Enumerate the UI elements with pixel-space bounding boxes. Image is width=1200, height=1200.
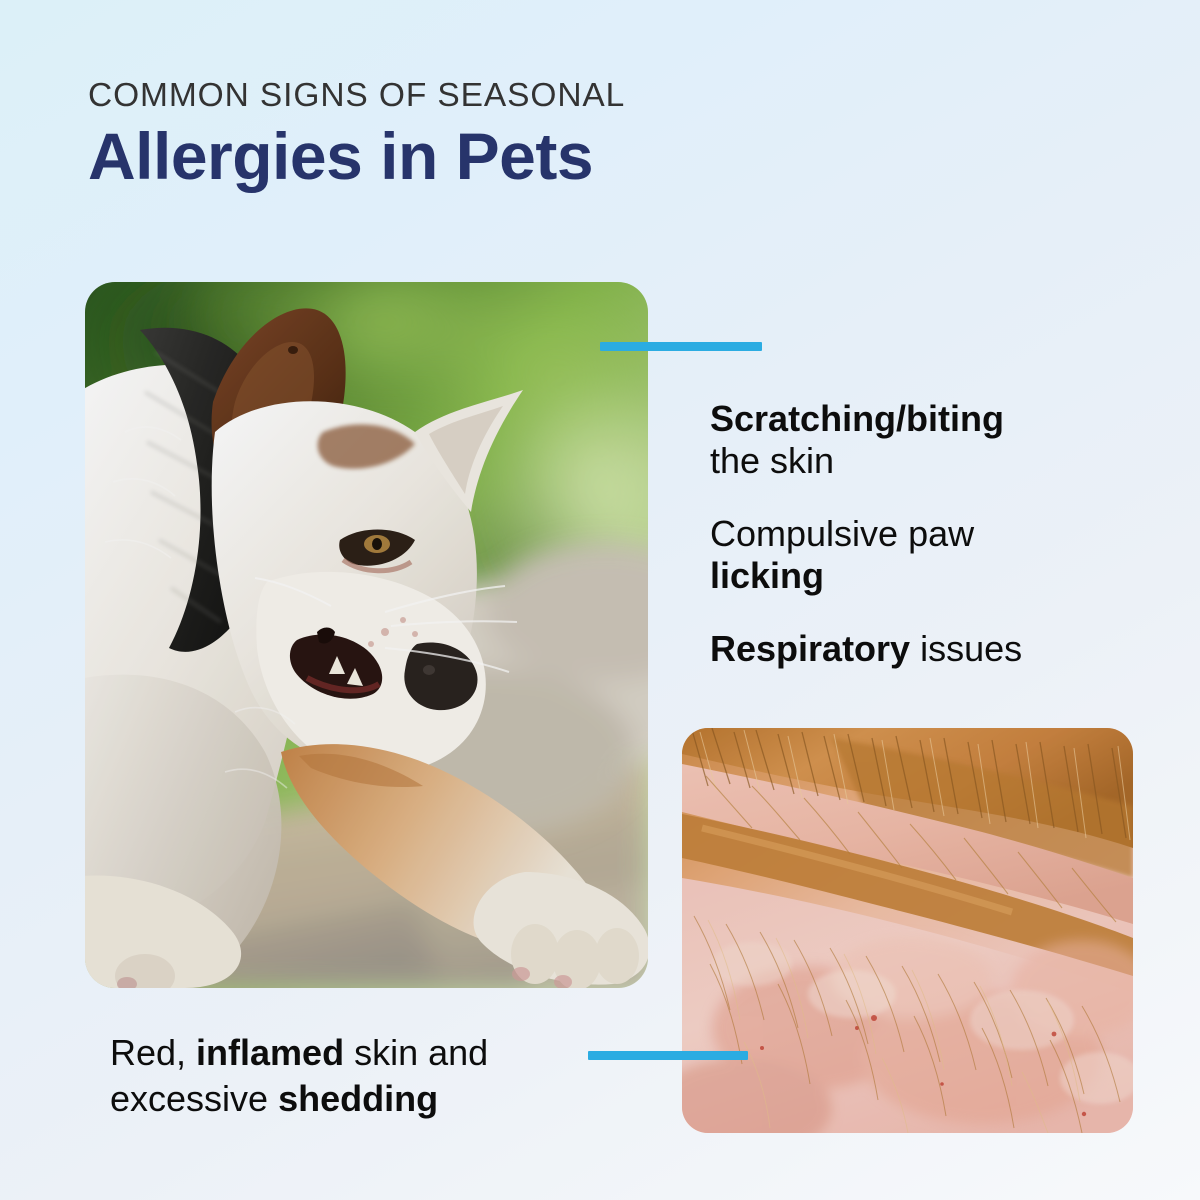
infographic-poster: COMMON SIGNS OF SEASONAL Allergies in Pe…	[0, 0, 1200, 1200]
bullet-1-bold: Scratching/biting	[710, 398, 1130, 440]
bullet-3-bold: Respiratory	[710, 628, 910, 669]
header-block: COMMON SIGNS OF SEASONAL Allergies in Pe…	[88, 78, 1048, 192]
list-item: Respiratory issues	[710, 628, 1130, 670]
page-title: Allergies in Pets	[88, 121, 1048, 192]
skin-caption: Red, inflamed skin and excessive sheddin…	[110, 1030, 630, 1122]
bullet-1-normal: the skin	[710, 440, 1130, 482]
caption-line1-part1: Red,	[110, 1032, 196, 1073]
caption-line2-part1: excessive	[110, 1078, 278, 1119]
symptom-list: Scratching/biting the skin Compulsive pa…	[710, 398, 1130, 670]
dog-photo-illustration	[85, 282, 648, 988]
list-item: Scratching/biting the skin	[710, 398, 1130, 483]
dog-photo-canvas	[85, 282, 648, 988]
dog-biting-paw-photo	[85, 282, 648, 988]
inflamed-skin-photo	[682, 728, 1133, 1133]
top-connector-line	[600, 342, 762, 351]
bullet-3-normal: issues	[910, 628, 1022, 669]
skin-photo-illustration	[682, 728, 1133, 1133]
bullet-2-bold: licking	[710, 555, 1130, 597]
caption-line1-bold: inflamed	[196, 1032, 344, 1073]
caption-line2-bold: shedding	[278, 1078, 438, 1119]
list-item: Compulsive paw licking	[710, 513, 1130, 598]
caption-line1-part2: skin and	[344, 1032, 488, 1073]
skin-photo-canvas	[682, 728, 1133, 1133]
eyebrow-text: COMMON SIGNS OF SEASONAL	[88, 78, 1048, 113]
bullet-2-normal: Compulsive paw	[710, 513, 1130, 555]
